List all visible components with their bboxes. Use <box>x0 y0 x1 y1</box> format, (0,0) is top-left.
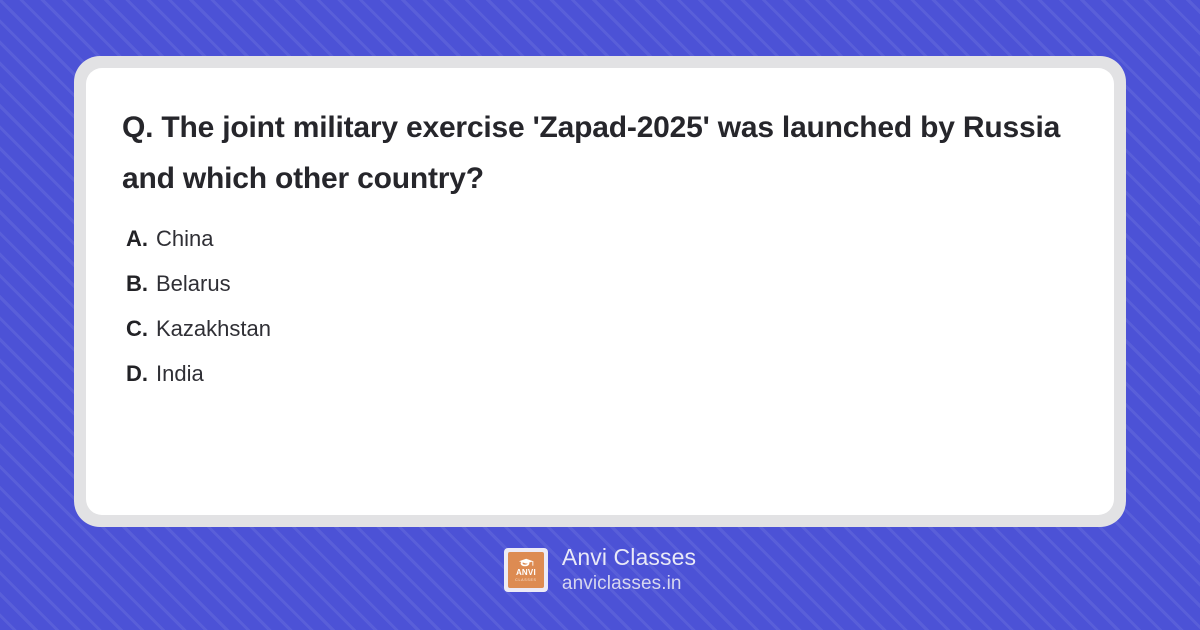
quiz-card-frame: Q. The joint military exercise 'Zapad-20… <box>74 56 1126 527</box>
option-row-d[interactable]: D. India <box>122 361 1078 406</box>
footer-branding: ANVI CLASSES Anvi Classes anviclasses.in <box>0 546 1200 593</box>
logo-inner-tile: ANVI CLASSES <box>508 552 544 588</box>
option-row-c[interactable]: C. Kazakhstan <box>122 316 1078 361</box>
option-text-a: China <box>156 226 213 252</box>
brand-text-block: Anvi Classes anviclasses.in <box>562 546 696 593</box>
logo-word-classes: CLASSES <box>515 578 536 582</box>
option-text-d: India <box>156 361 204 387</box>
anvi-classes-logo: ANVI CLASSES <box>504 548 548 592</box>
option-row-a[interactable]: A. China <box>122 226 1078 271</box>
option-text-c: Kazakhstan <box>156 316 271 342</box>
option-text-b: Belarus <box>156 271 231 297</box>
option-row-b[interactable]: B. Belarus <box>122 271 1078 316</box>
options-list: A. China B. Belarus C. Kazakhstan D. Ind… <box>122 226 1078 406</box>
option-letter-a: A. <box>126 226 148 252</box>
option-letter-b: B. <box>126 271 148 297</box>
logo-word-anvi: ANVI <box>516 569 536 577</box>
quiz-card: Q. The joint military exercise 'Zapad-20… <box>86 68 1114 515</box>
graduation-cap-icon <box>518 558 534 568</box>
brand-name: Anvi Classes <box>562 546 696 569</box>
option-letter-c: C. <box>126 316 148 342</box>
brand-url: anviclasses.in <box>562 574 696 593</box>
question-text: Q. The joint military exercise 'Zapad-20… <box>122 102 1078 204</box>
option-letter-d: D. <box>126 361 148 387</box>
